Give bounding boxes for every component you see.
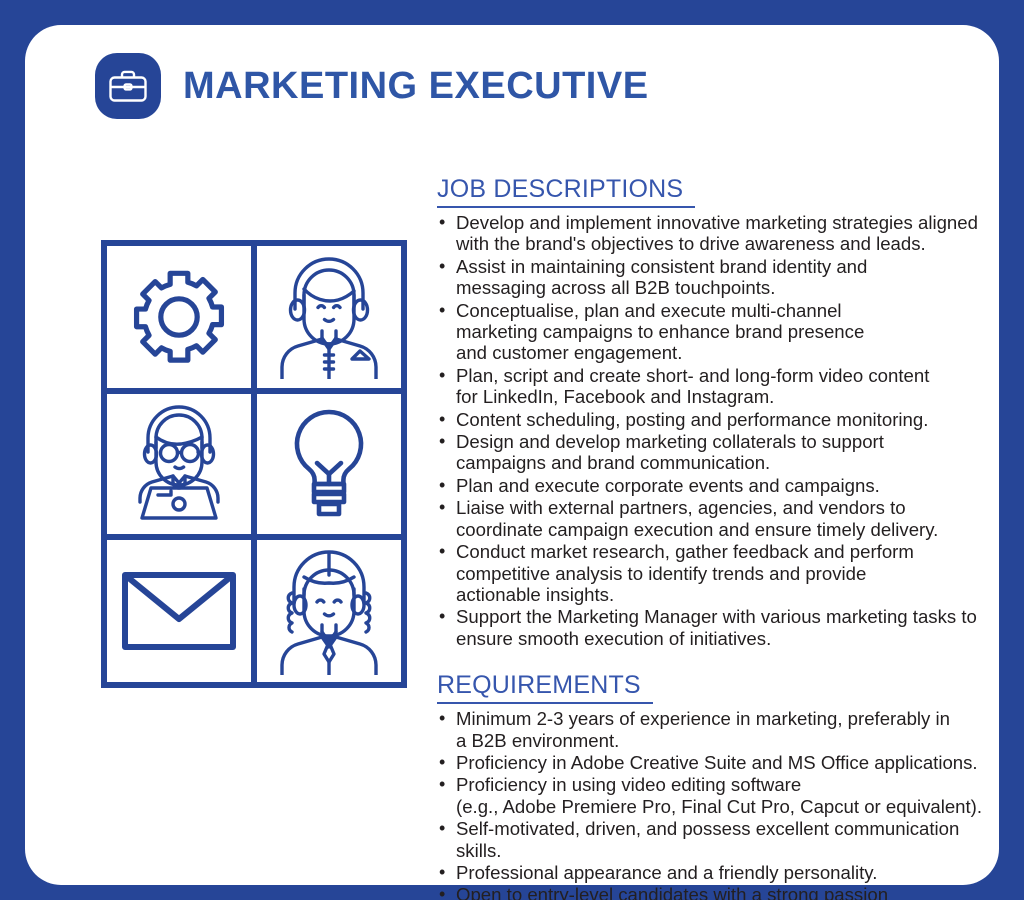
list-item: Liaise with external partners, agencies,… [437,497,1024,540]
list-item: Plan, script and create short- and long-… [437,365,1024,408]
job-content: JOB DESCRIPTIONS Develop and implement i… [437,175,1024,900]
job-descriptions-list: Develop and implement innovative marketi… [437,212,1024,649]
section-heading-job-descriptions: JOB DESCRIPTIONS [437,175,695,208]
grid-cell-gear [107,246,254,391]
list-item: Conceptualise, plan and execute multi-ch… [437,300,1024,364]
list-item: Develop and implement innovative marketi… [437,212,1024,255]
icon-grid [101,240,407,688]
list-item: Minimum 2-3 years of experience in marke… [437,708,1024,751]
grid-cell-woman-curly-hair [254,537,401,682]
list-item: Content scheduling, posting and performa… [437,409,1024,430]
poster-card: MARKETING EXECUTIVE [25,25,999,885]
list-item: Professional appearance and a friendly p… [437,862,1024,883]
requirements-list: Minimum 2-3 years of experience in marke… [437,708,1024,900]
list-item: Conduct market research, gather feedback… [437,541,1024,605]
businesswoman-icon [270,255,388,379]
poster-frame: MARKETING EXECUTIVE [0,0,1024,900]
grid-cell-envelope [107,537,254,682]
grid-cell-businesswoman [254,246,401,391]
envelope-icon [121,569,237,653]
list-item: Plan and execute corporate events and ca… [437,475,1024,496]
gear-icon [127,265,231,369]
briefcase-icon [95,53,161,119]
section-job-descriptions: JOB DESCRIPTIONS Develop and implement i… [437,175,1024,649]
list-item: Design and develop marketing collaterals… [437,431,1024,474]
list-item: Self-motivated, driven, and possess exce… [437,818,1024,861]
section-requirements: REQUIREMENTS Minimum 2-3 years of experi… [437,671,1024,900]
woman-curly-hair-icon [270,547,388,675]
person-laptop-icon [120,404,238,524]
list-item: Assist in maintaining consistent brand i… [437,256,1024,299]
list-item: Open to entry-level candidates with a st… [437,884,1024,900]
grid-cell-lightbulb [254,391,401,536]
list-item: Proficiency in Adobe Creative Suite and … [437,752,1024,773]
page-title: MARKETING EXECUTIVE [183,65,649,108]
poster-header: MARKETING EXECUTIVE [95,53,649,119]
list-item: Support the Marketing Manager with vario… [437,606,1024,649]
grid-cell-person-laptop [107,391,254,536]
section-heading-requirements: REQUIREMENTS [437,671,653,704]
lightbulb-icon [286,406,372,522]
list-item: Proficiency in using video editing softw… [437,774,1024,817]
